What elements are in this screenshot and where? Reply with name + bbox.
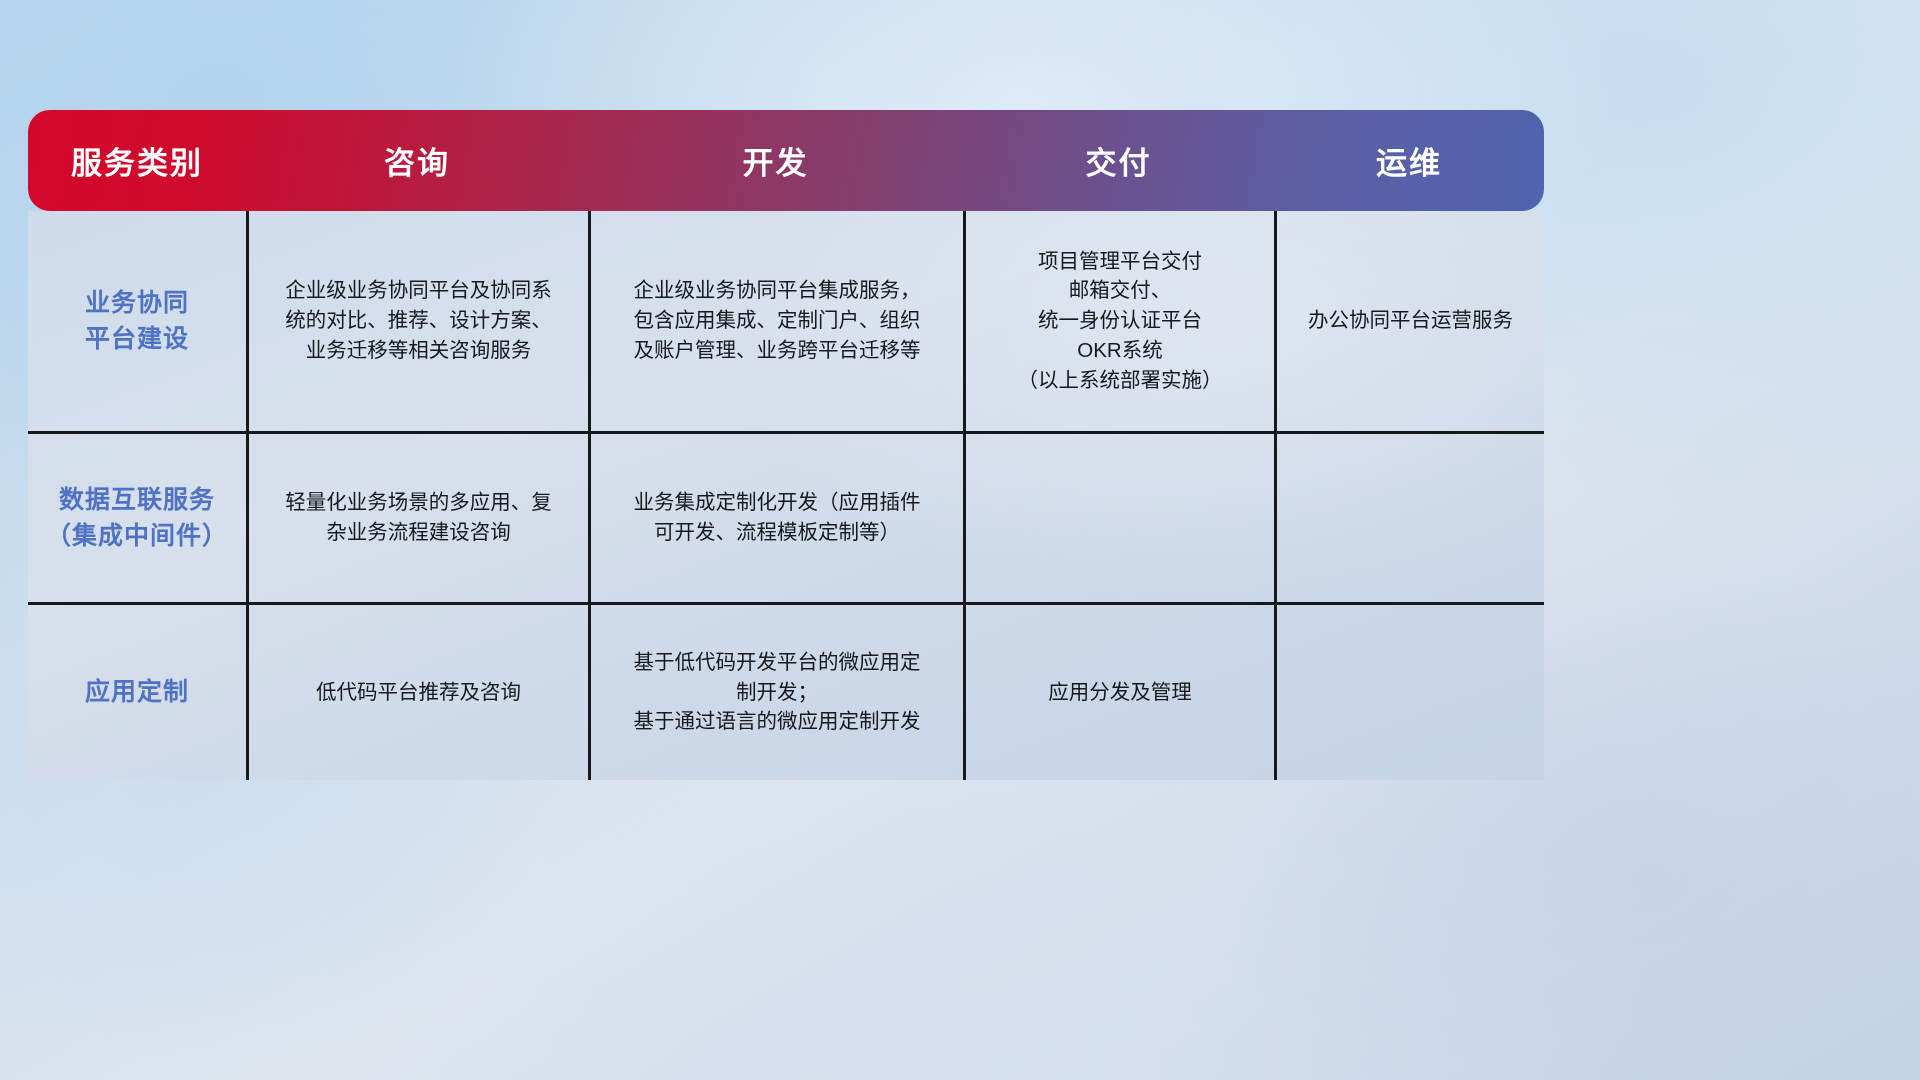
cell-develop: 企业级业务协同平台集成服务， 包含应用集成、定制门户、组织 及账户管理、业务跨平… (588, 211, 963, 431)
cell-operate: 办公协同平台运营服务 (1274, 211, 1544, 431)
cell-develop: 业务集成定制化开发（应用插件 可开发、流程模板定制等） (588, 434, 963, 602)
column-header-operate: 运维 (1274, 110, 1544, 211)
cell-deliver: 应用分发及管理 (963, 605, 1274, 780)
cell-operate (1274, 605, 1544, 780)
row-label-cell: 应用定制 (28, 605, 246, 780)
cell-consult: 企业级业务协同平台及协同系 统的对比、推荐、设计方案、 业务迁移等相关咨询服务 (246, 211, 588, 431)
table-row: 业务协同 平台建设 企业级业务协同平台及协同系 统的对比、推荐、设计方案、 业务… (28, 211, 1544, 431)
cell-operate (1274, 434, 1544, 602)
row-label-cell: 数据互联服务 （集成中间件） (28, 434, 246, 602)
table-row: 应用定制 低代码平台推荐及咨询 基于低代码开发平台的微应用定 制开发； 基于通过… (28, 602, 1544, 780)
column-header-consult: 咨询 (246, 110, 588, 211)
cell-deliver (963, 434, 1274, 602)
cell-consult: 低代码平台推荐及咨询 (246, 605, 588, 780)
table-header-row: 服务类别 咨询 开发 交付 运维 (28, 110, 1544, 211)
row-label-cell: 业务协同 平台建设 (28, 211, 246, 431)
column-header-category: 服务类别 (28, 110, 246, 211)
column-header-develop: 开发 (588, 110, 963, 211)
cell-consult: 轻量化业务场景的多应用、复 杂业务流程建设咨询 (246, 434, 588, 602)
cell-deliver: 项目管理平台交付 邮箱交付、 统一身份认证平台 OKR系统 （以上系统部署实施） (963, 211, 1274, 431)
service-matrix-table: 服务类别 咨询 开发 交付 运维 业务协同 平台建设 企业级业务协同平台及协同系… (28, 110, 1544, 780)
table-row: 数据互联服务 （集成中间件） 轻量化业务场景的多应用、复 杂业务流程建设咨询 业… (28, 431, 1544, 602)
column-header-deliver: 交付 (963, 110, 1274, 211)
cell-develop: 基于低代码开发平台的微应用定 制开发； 基于通过语言的微应用定制开发 (588, 605, 963, 780)
table-body: 业务协同 平台建设 企业级业务协同平台及协同系 统的对比、推荐、设计方案、 业务… (28, 211, 1544, 780)
